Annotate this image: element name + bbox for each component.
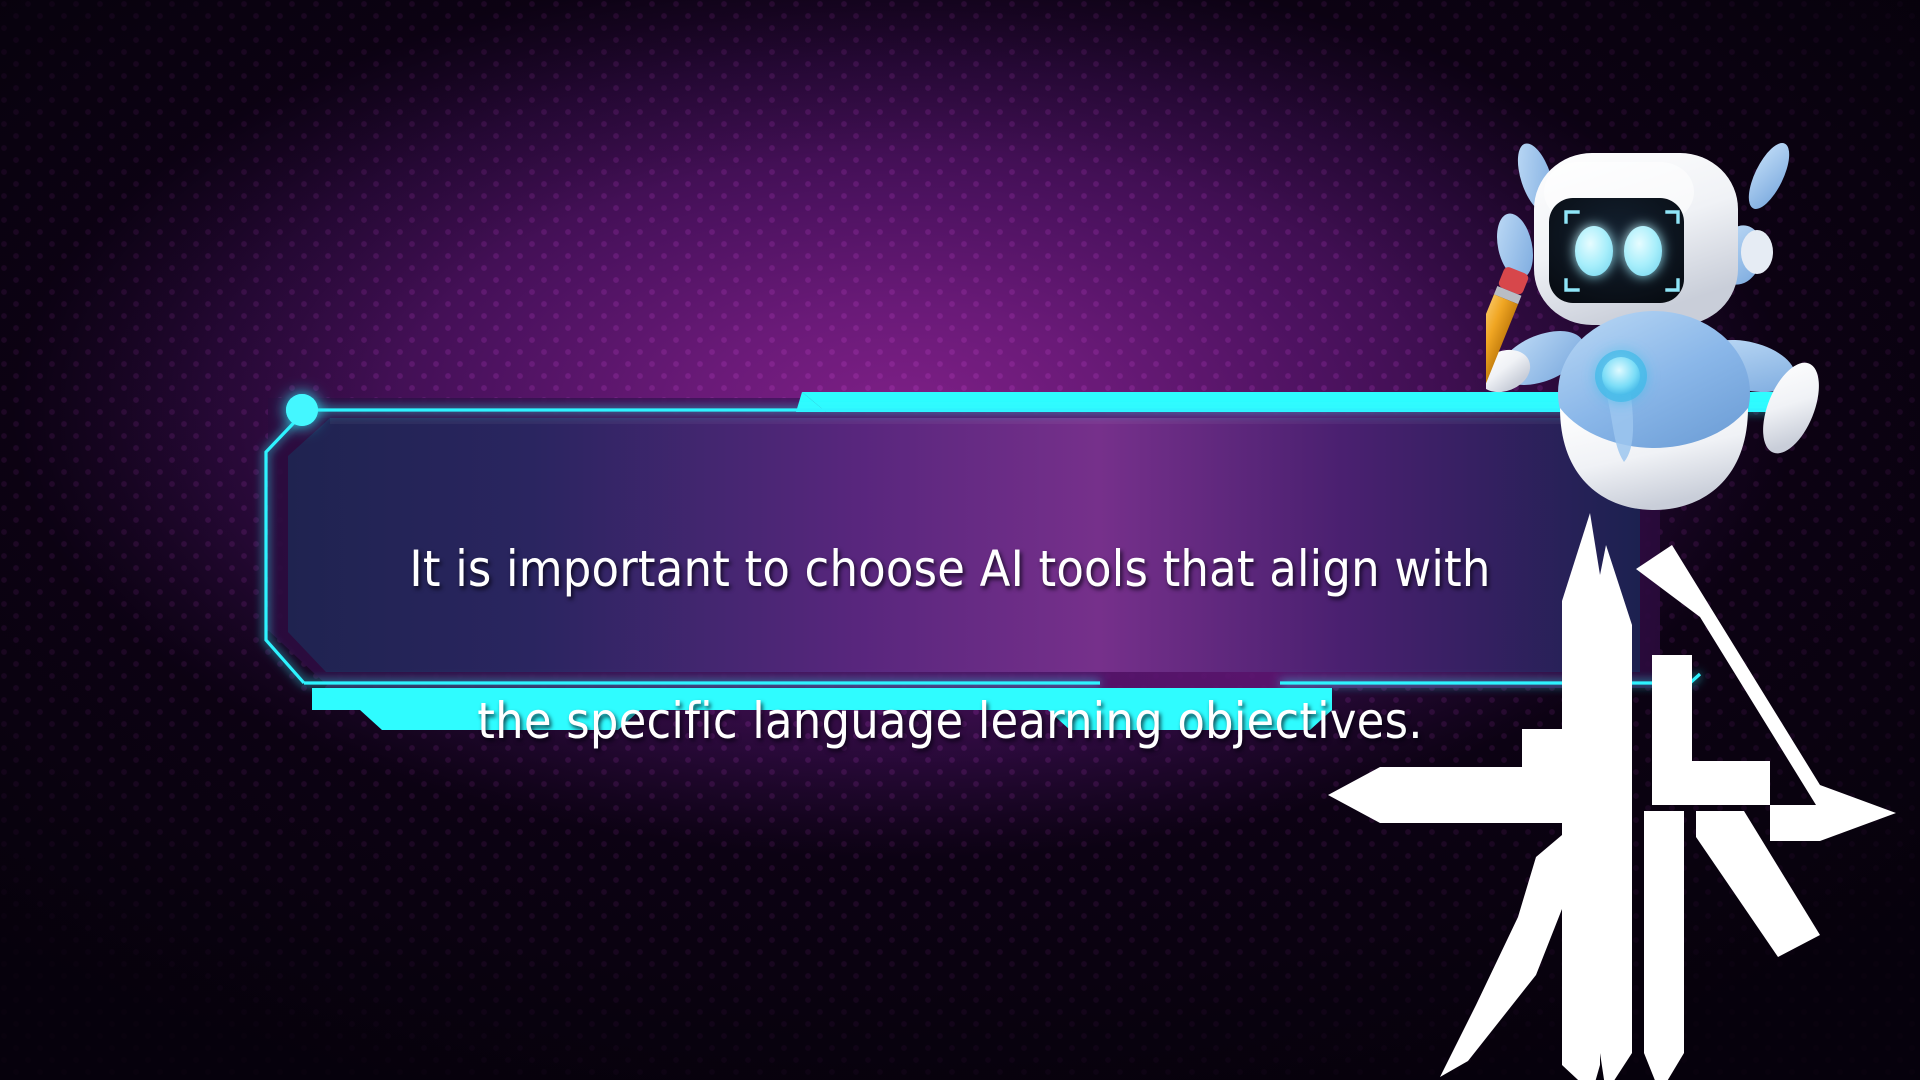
banner-bottom-cyan-bar <box>312 688 1332 730</box>
robot-chest-light-icon <box>1595 350 1647 402</box>
robot-antenna-right-icon <box>1741 138 1798 215</box>
ai-robot-mascot <box>1486 118 1906 538</box>
slide-canvas: It is important to choose AI tools that … <box>0 0 1920 1080</box>
jr-monogram-logo <box>1300 505 1920 1080</box>
robot-face-screen <box>1549 198 1684 303</box>
robot-body <box>1558 311 1750 510</box>
banner-corner-node-icon <box>286 394 318 426</box>
logo-mark-icon <box>1328 513 1896 1080</box>
